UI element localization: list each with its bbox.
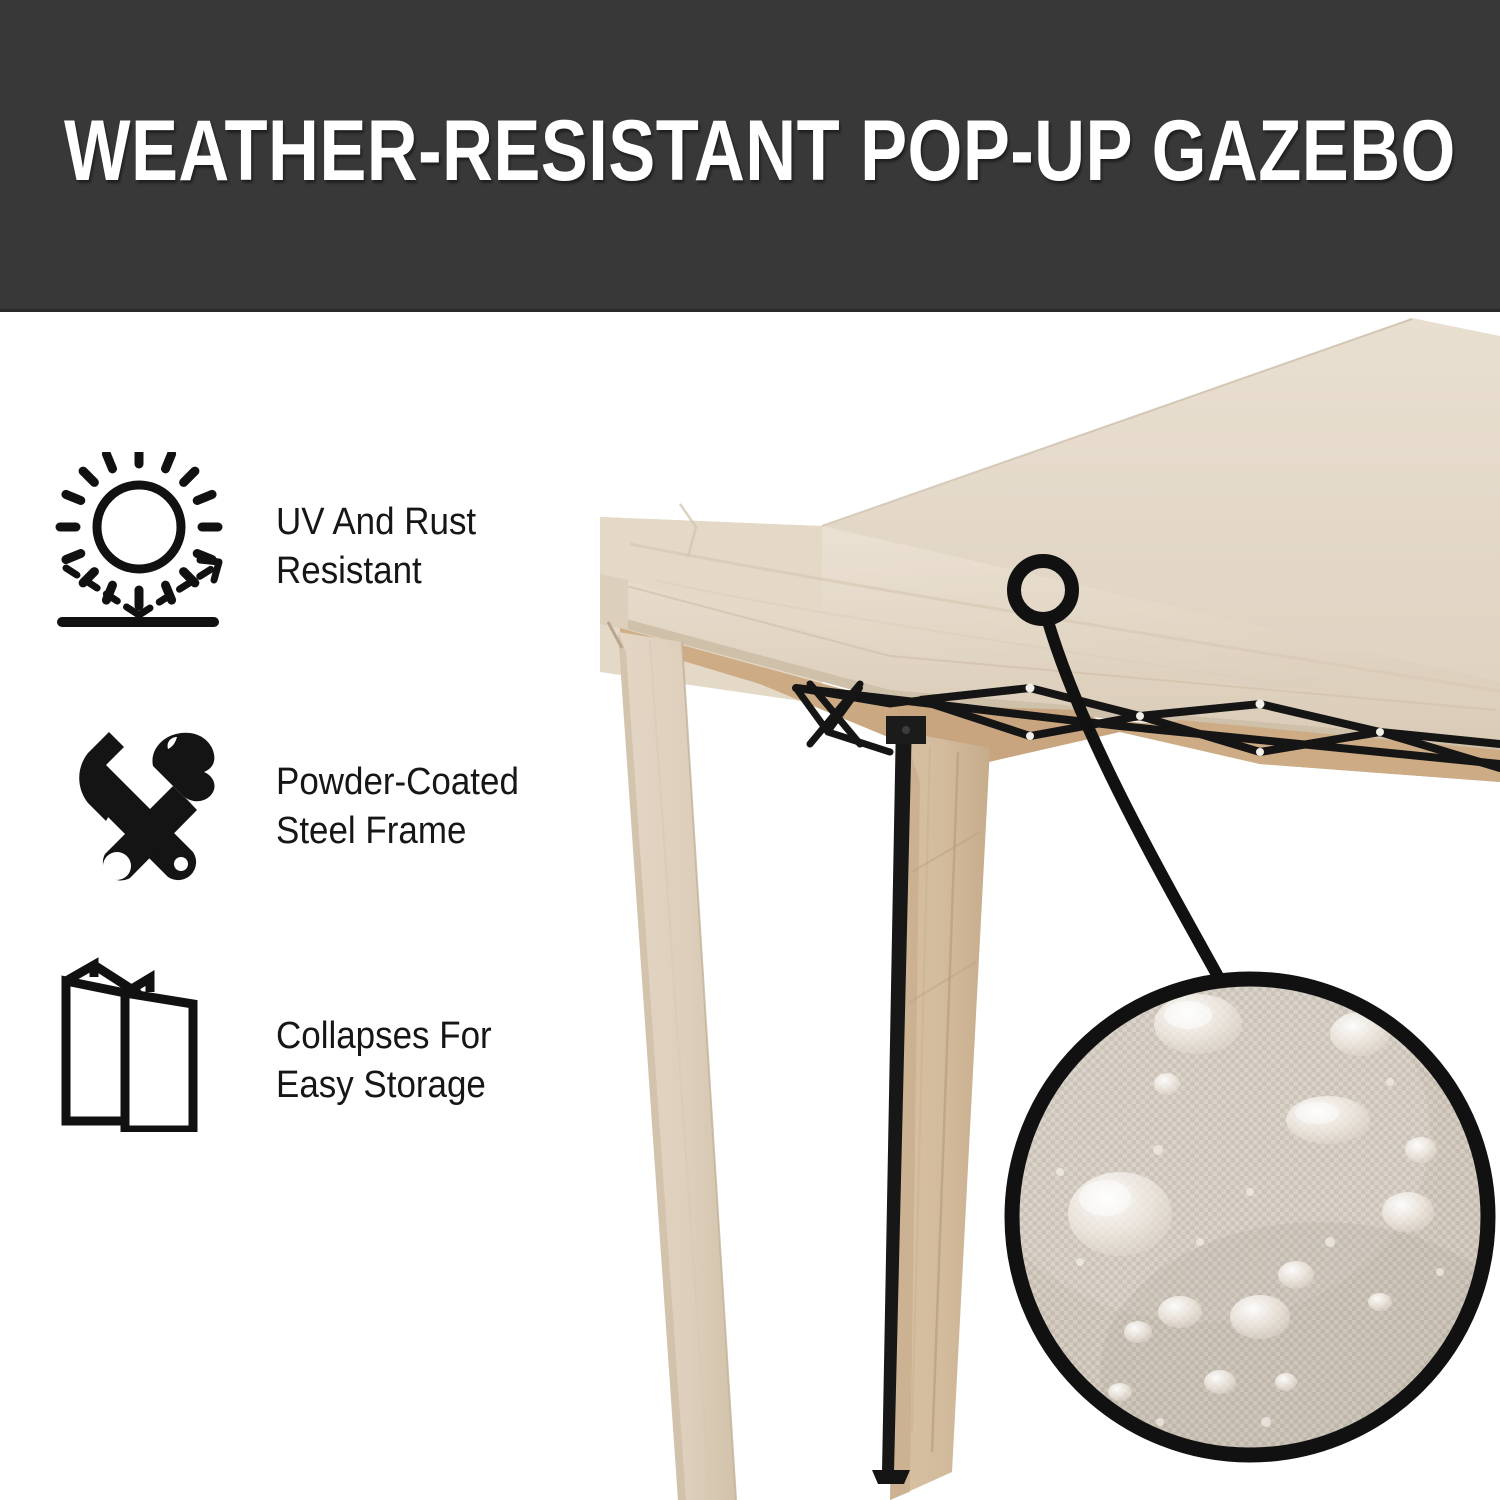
infographic-page: Weather-Resistant Pop-Up Gazebo (0, 0, 1500, 1500)
sun-uv-reflect-icon (54, 452, 244, 632)
header-banner: Weather-Resistant Pop-Up Gazebo (0, 0, 1500, 312)
product-photo (560, 312, 1500, 1500)
feature-list: UV And Rust Resistant (54, 452, 574, 1202)
feature-label-collapsible: Collapses For Easy Storage (276, 1012, 552, 1110)
feature-item-uv-rust: UV And Rust Resistant (54, 452, 574, 702)
feature-label-steel-frame: Powder-Coated Steel Frame (276, 758, 552, 856)
folding-panels-icon (54, 952, 244, 1132)
feature-item-collapsible: Collapses For Easy Storage (54, 952, 574, 1202)
feature-item-steel-frame: Powder-Coated Steel Frame (54, 702, 574, 952)
hammer-wrench-icon (54, 702, 244, 882)
feature-label-uv-rust: UV And Rust Resistant (276, 498, 552, 596)
page-title: Weather-Resistant Pop-Up Gazebo (64, 108, 1204, 194)
